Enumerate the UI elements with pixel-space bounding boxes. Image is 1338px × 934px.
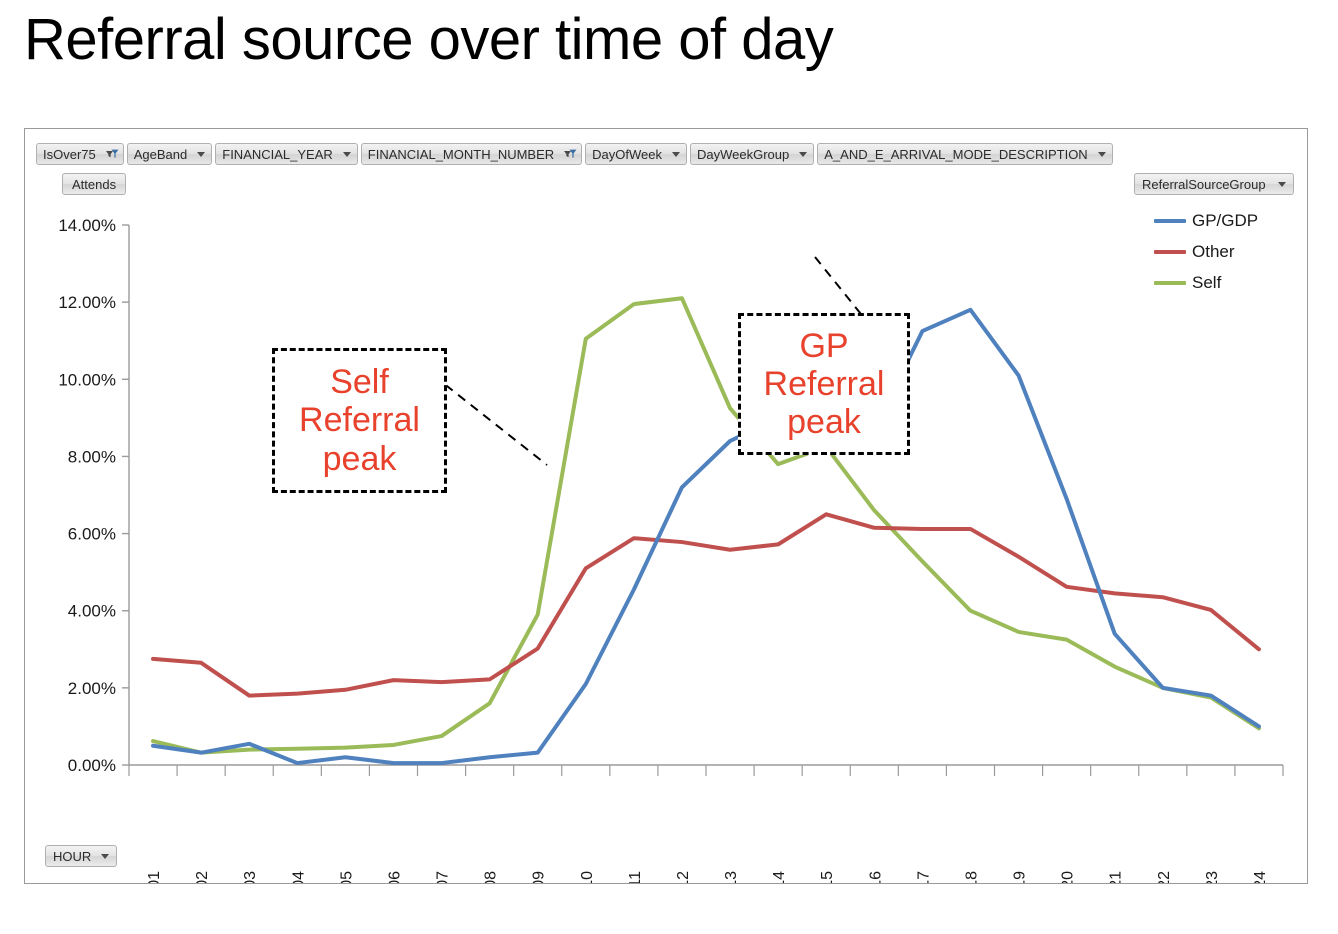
x-axis-tick-label: 12 - 13 bbox=[723, 871, 740, 883]
x-axis-tick-label: 22 - 23 bbox=[1204, 871, 1221, 883]
y-axis-tick-label: 8.00% bbox=[68, 447, 116, 466]
x-axis-tick-label: 19 - 20 bbox=[1060, 871, 1077, 883]
x-axis-tick-label: 21 - 22 bbox=[1156, 871, 1173, 883]
x-axis-tick-label: 18 - 19 bbox=[1012, 871, 1029, 883]
x-axis-tick-label: 00 - 01 bbox=[146, 871, 163, 883]
x-axis-tick-label: 23 - 24 bbox=[1252, 871, 1269, 883]
x-axis-tick-label: 09 - 10 bbox=[579, 871, 596, 883]
pivot-chart-frame: IsOver75AgeBandFINANCIAL_YEARFINANCIAL_M… bbox=[24, 128, 1308, 884]
x-axis-tick-label: 08 - 09 bbox=[531, 871, 548, 883]
x-axis-tick-label: 16 - 17 bbox=[915, 871, 932, 883]
y-axis-tick-label: 4.00% bbox=[68, 602, 116, 621]
x-axis-tick-label: 02 - 03 bbox=[242, 871, 259, 883]
y-axis-tick-label: 14.00% bbox=[58, 216, 116, 235]
callout-gp-referral-peak: GPReferralpeak bbox=[738, 313, 910, 455]
x-axis-tick-label: 03 - 04 bbox=[290, 871, 307, 883]
chart-plot-area: 0.00%2.00%4.00%6.00%8.00%10.00%12.00%14.… bbox=[25, 129, 1307, 883]
x-axis-tick-label: 06 - 07 bbox=[435, 871, 452, 883]
y-axis-tick-label: 6.00% bbox=[68, 525, 116, 544]
x-axis-tick-label: 14 - 15 bbox=[819, 871, 836, 883]
x-axis-tick-label: 11 - 12 bbox=[675, 871, 692, 883]
series-line-other bbox=[153, 514, 1259, 695]
callout-text: SelfReferralpeak bbox=[299, 363, 420, 477]
x-axis-tick-label: 15 - 16 bbox=[867, 871, 884, 883]
x-axis-tick-label: 01 - 02 bbox=[194, 871, 211, 883]
y-axis-tick-label: 12.00% bbox=[58, 293, 116, 312]
x-axis-tick-label: 10 - 11 bbox=[627, 871, 644, 883]
page-title: Referral source over time of day bbox=[24, 8, 833, 72]
x-axis-tick-label: 13 - 14 bbox=[771, 871, 788, 883]
x-axis-tick-label: 05 - 06 bbox=[386, 871, 403, 883]
callout-leader-line-self bbox=[433, 375, 547, 465]
y-axis-tick-label: 2.00% bbox=[68, 679, 116, 698]
y-axis-tick-label: 0.00% bbox=[68, 756, 116, 775]
x-axis-tick-label: 17 - 18 bbox=[963, 871, 980, 883]
callout-self-referral-peak: SelfReferralpeak bbox=[272, 348, 447, 493]
x-axis-tick-label: 04 - 05 bbox=[338, 871, 355, 883]
callout-leader-line-gp bbox=[815, 257, 865, 319]
callout-text: GPReferralpeak bbox=[764, 327, 885, 441]
x-axis-tick-label: 20 - 21 bbox=[1108, 871, 1125, 883]
x-axis-tick-label: 07 - 08 bbox=[483, 871, 500, 883]
y-axis-tick-label: 10.00% bbox=[58, 370, 116, 389]
